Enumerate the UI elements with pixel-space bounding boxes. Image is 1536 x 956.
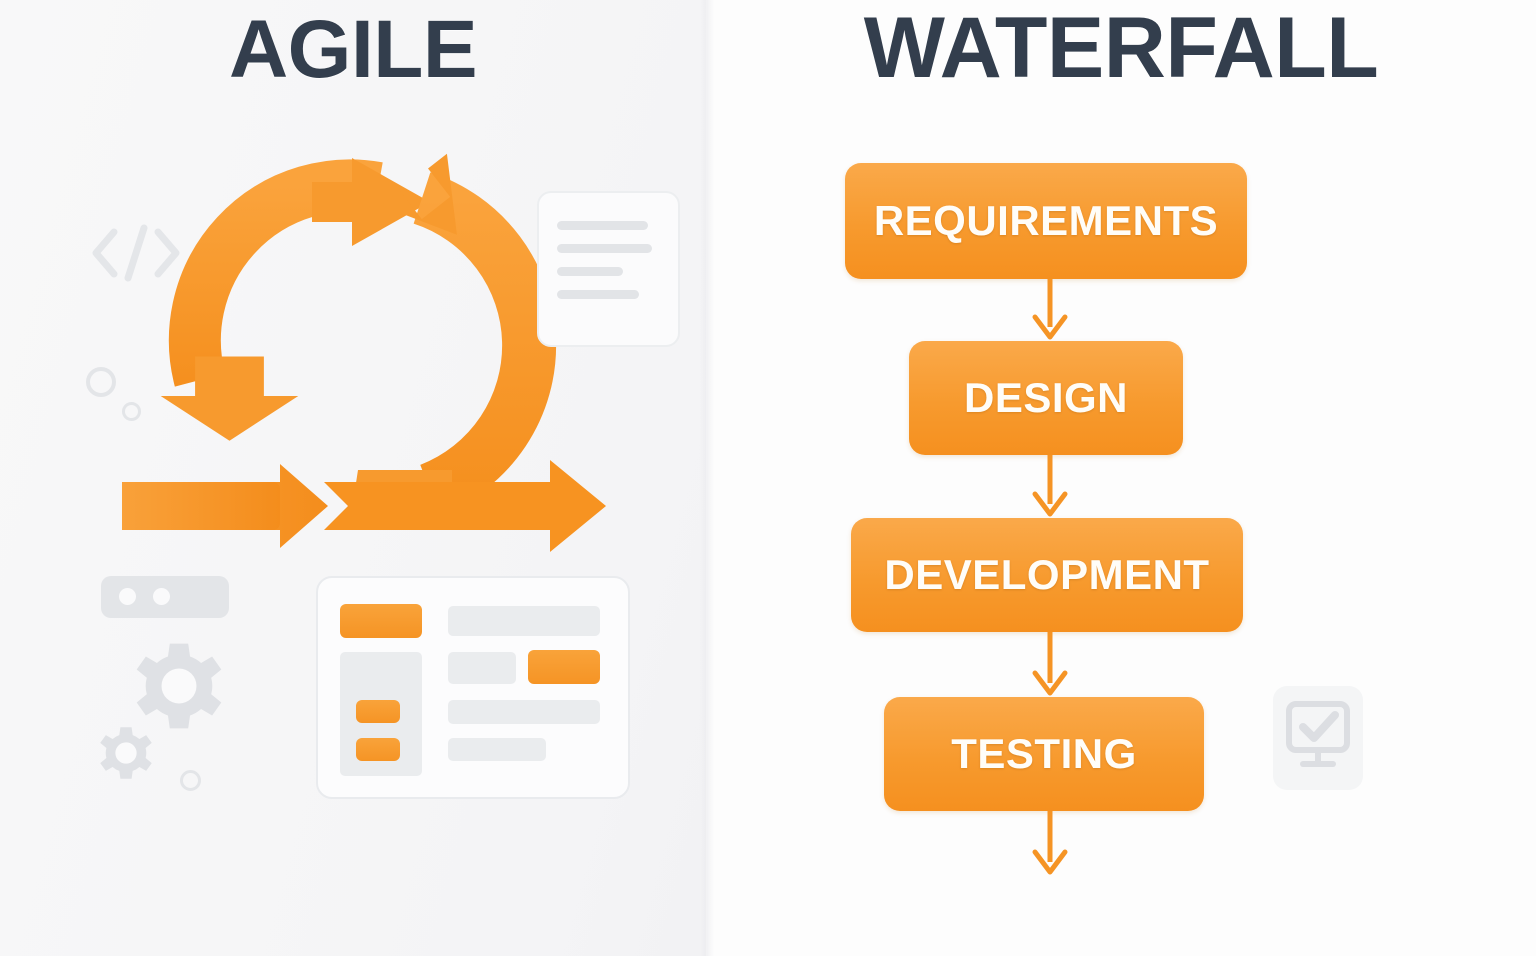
monitor-check-icon bbox=[1273, 686, 1363, 790]
document-line bbox=[557, 267, 623, 276]
waterfall-title: WATERFALL bbox=[706, 0, 1536, 96]
flow-arrow-down-icon bbox=[1030, 632, 1070, 697]
board-block bbox=[356, 700, 400, 723]
board-block bbox=[448, 700, 600, 724]
kanban-board-card bbox=[316, 576, 630, 799]
agile-panel: AGILE bbox=[0, 0, 706, 956]
toggle-pill-icon bbox=[101, 576, 229, 618]
decorative-ring-small bbox=[122, 402, 141, 421]
decorative-ring-large bbox=[86, 367, 116, 397]
code-brackets-icon bbox=[88, 222, 184, 284]
agile-title: AGILE bbox=[0, 2, 706, 98]
infographic-canvas: AGILE bbox=[0, 0, 1536, 956]
sprint-arrow-2 bbox=[324, 460, 606, 552]
document-line bbox=[557, 290, 639, 299]
waterfall-stage-requirements[interactable]: REQUIREMENTS bbox=[845, 163, 1247, 279]
stage-label: DEVELOPMENT bbox=[884, 551, 1209, 599]
board-block bbox=[340, 604, 422, 638]
board-block bbox=[448, 652, 516, 684]
stage-label: REQUIREMENTS bbox=[874, 197, 1218, 245]
waterfall-stage-development[interactable]: DEVELOPMENT bbox=[851, 518, 1243, 632]
stage-label: DESIGN bbox=[964, 374, 1128, 422]
waterfall-stage-design[interactable]: DESIGN bbox=[909, 341, 1183, 455]
document-line bbox=[557, 221, 648, 230]
panel-divider bbox=[700, 0, 714, 956]
gear-large-icon bbox=[133, 640, 225, 732]
flow-arrow-down-icon bbox=[1030, 455, 1070, 518]
board-block bbox=[528, 650, 600, 684]
board-block bbox=[356, 738, 400, 761]
pill-dot bbox=[153, 588, 170, 605]
waterfall-panel bbox=[706, 0, 1536, 956]
gear-small-icon bbox=[98, 725, 154, 781]
agile-sprint-arrows bbox=[110, 450, 650, 570]
waterfall-stage-testing[interactable]: TESTING bbox=[884, 697, 1204, 811]
document-line bbox=[557, 244, 652, 253]
flow-arrow-down-icon bbox=[1030, 279, 1070, 341]
pill-dot bbox=[119, 588, 136, 605]
board-block bbox=[448, 738, 546, 761]
flow-arrow-down-icon bbox=[1030, 811, 1070, 876]
stage-label: TESTING bbox=[951, 730, 1137, 778]
document-card bbox=[537, 191, 680, 347]
decorative-ring-tiny bbox=[180, 770, 201, 791]
board-block bbox=[448, 606, 600, 636]
